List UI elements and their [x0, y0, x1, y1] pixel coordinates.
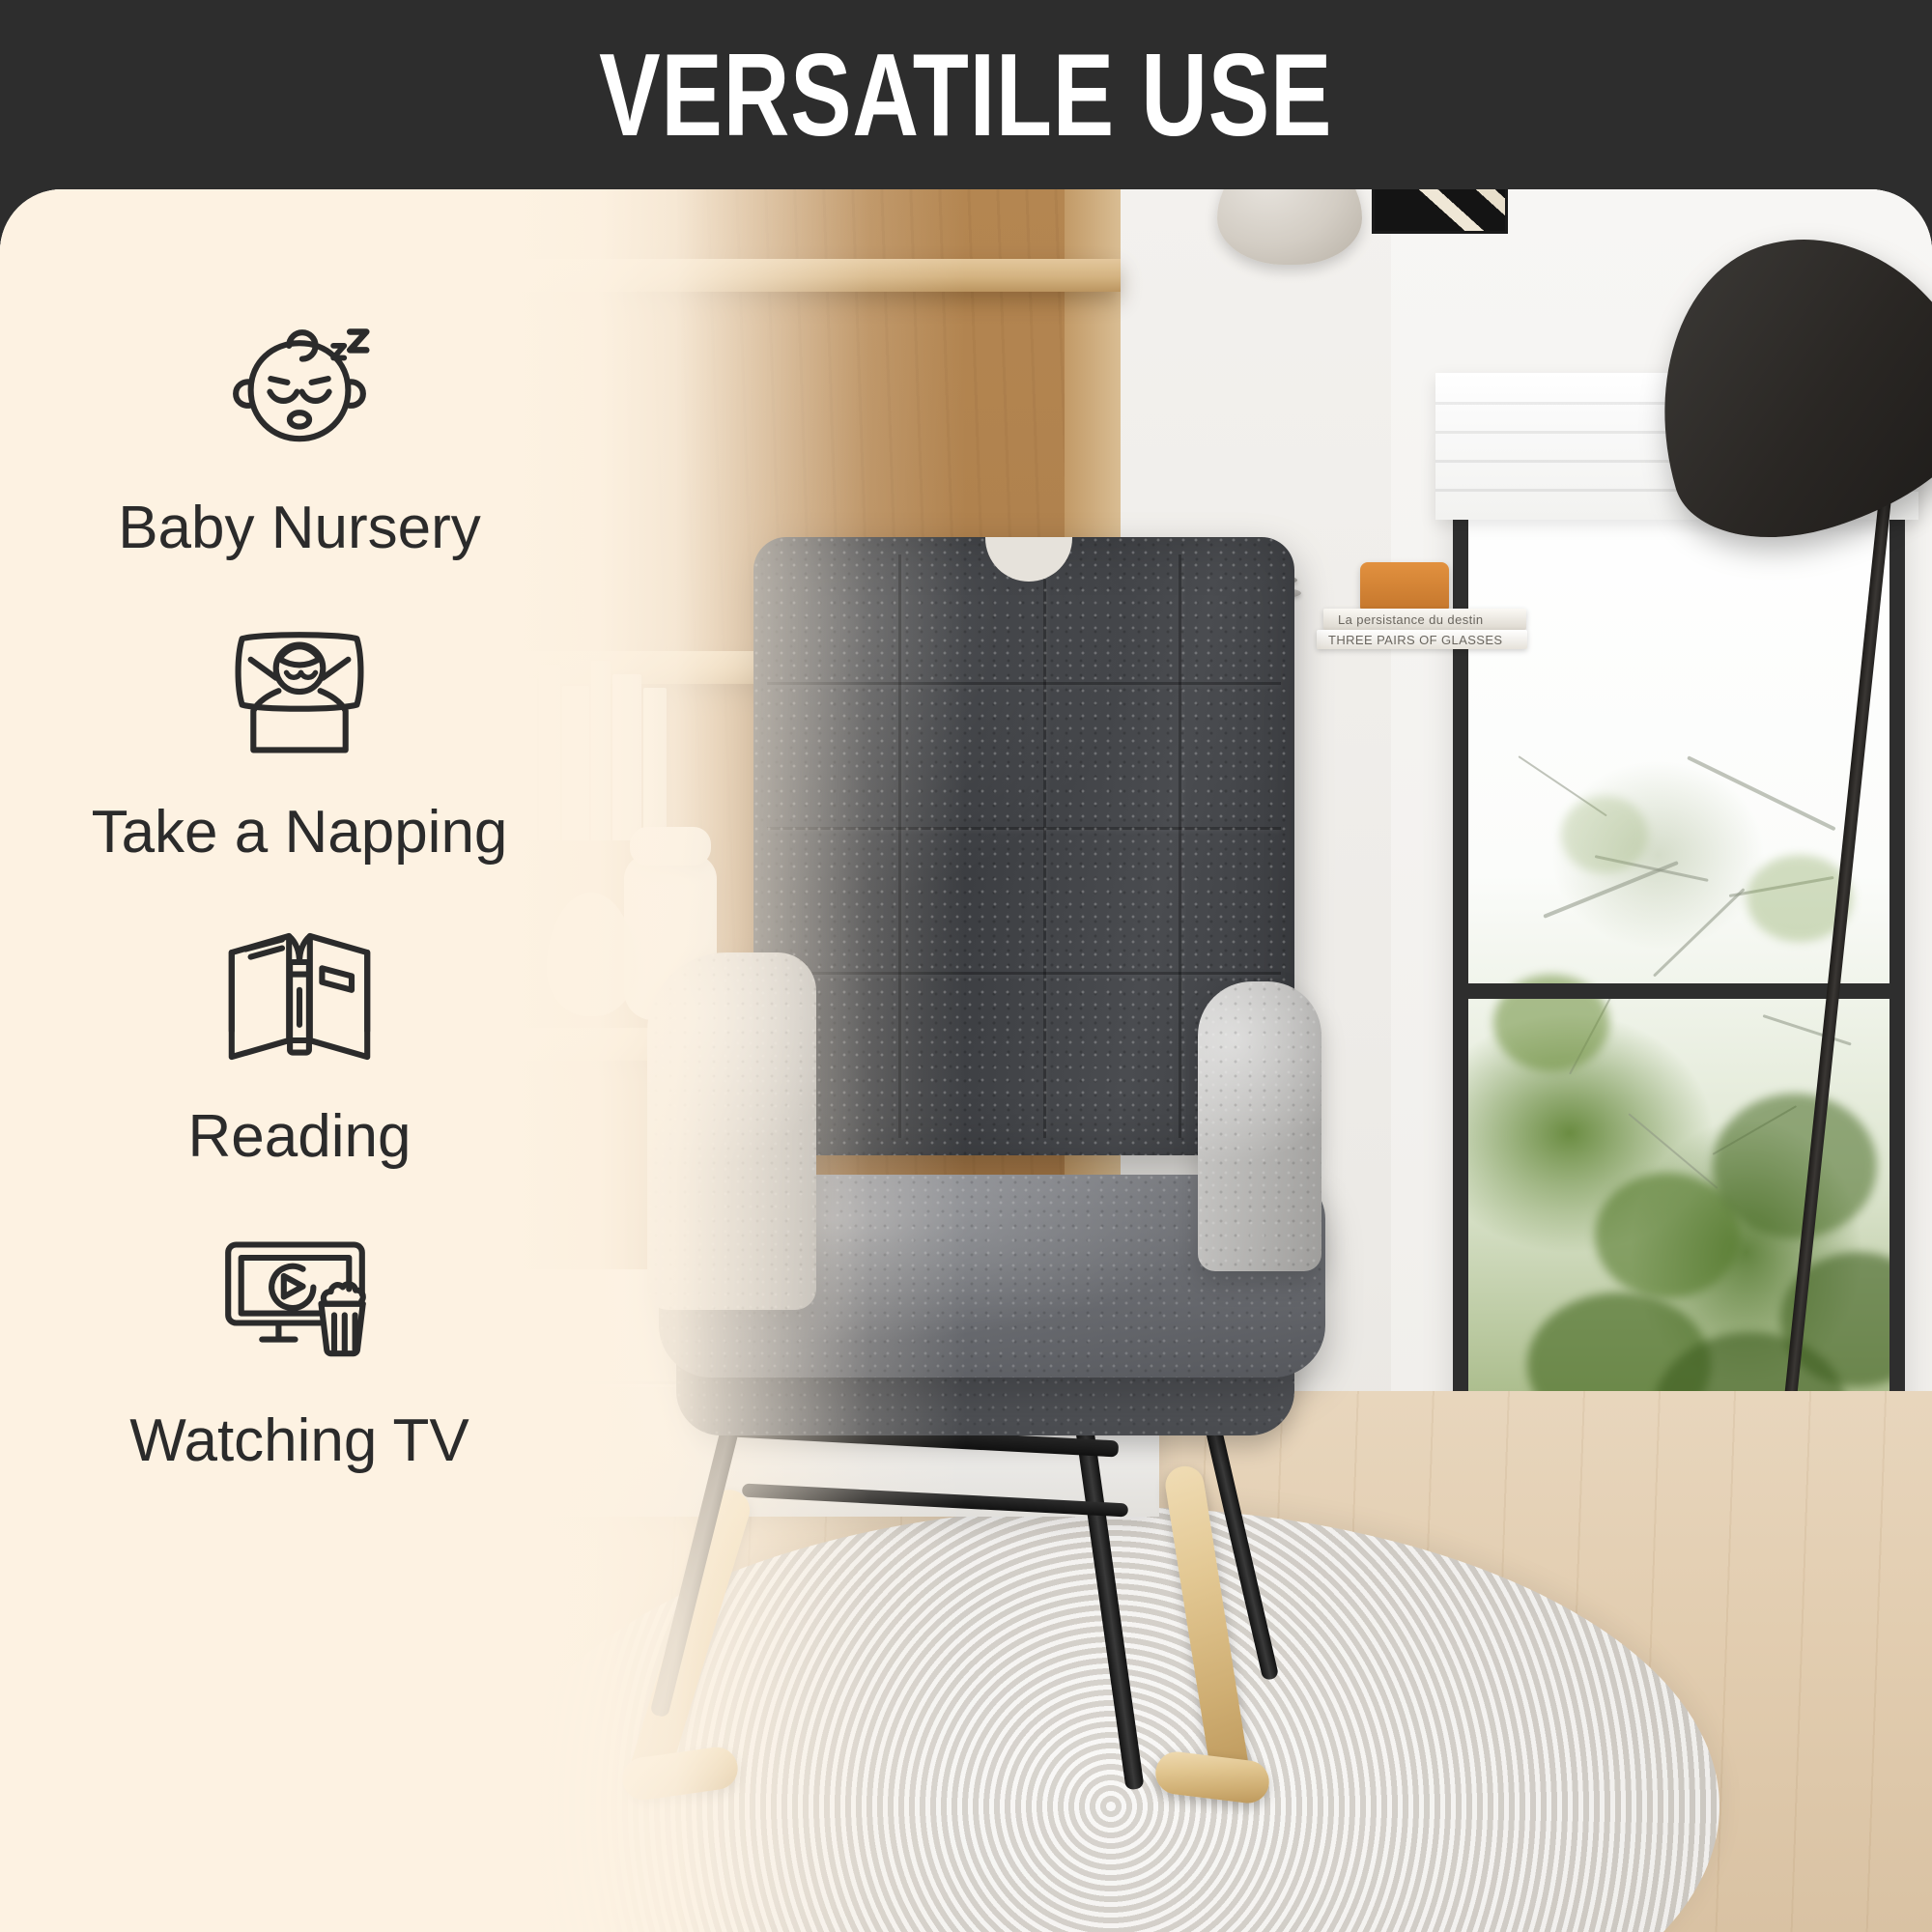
person-napping-on-pillow-icon: [213, 606, 386, 780]
chair-armrest-left: [647, 952, 816, 1310]
tree-branch: [1763, 1014, 1852, 1046]
sleeping-baby-icon: [213, 301, 386, 475]
feature-item-reading: Reading: [29, 910, 570, 1168]
tree-branch: [1687, 756, 1836, 832]
chair-leg-front-right: [1072, 1406, 1144, 1791]
feature-item-take-a-napping: Take a Napping: [29, 606, 570, 864]
foliage: [1561, 796, 1648, 873]
feature-item-baby-nursery: Baby Nursery: [29, 301, 570, 559]
feature-label: Reading: [188, 1105, 412, 1168]
orange-candle: [1360, 562, 1449, 612]
rocking-chair: [618, 537, 1314, 1812]
page-title: VERSATILE USE: [599, 36, 1332, 154]
tree-branch: [1653, 888, 1746, 977]
infographic-root: VERSATILE USE: [0, 0, 1932, 1932]
feature-item-watching-tv: Watching TV: [29, 1214, 570, 1472]
content-panel: La persistance du destin THREE PAIRS OF …: [0, 189, 1932, 1932]
framed-artwork: [1372, 189, 1508, 234]
tv-with-popcorn-icon: [213, 1214, 386, 1388]
chair-armrest-right: [1198, 981, 1321, 1271]
feature-list: Baby Nursery: [0, 189, 599, 1932]
feature-label: Take a Napping: [92, 801, 508, 864]
feature-label: Baby Nursery: [118, 497, 481, 559]
feature-label: Watching TV: [129, 1409, 469, 1472]
header-bar: VERSATILE USE: [0, 0, 1932, 189]
rocker-runner-right-toe: [1153, 1749, 1271, 1805]
window-glass: [1468, 458, 1889, 1451]
open-book-icon: [213, 910, 386, 1084]
chair-stretcher-lower: [742, 1484, 1128, 1518]
book-title-1: La persistance du destin: [1338, 612, 1484, 627]
foliage: [1713, 1094, 1877, 1238]
book-title-2: THREE PAIRS OF GLASSES: [1328, 633, 1503, 647]
